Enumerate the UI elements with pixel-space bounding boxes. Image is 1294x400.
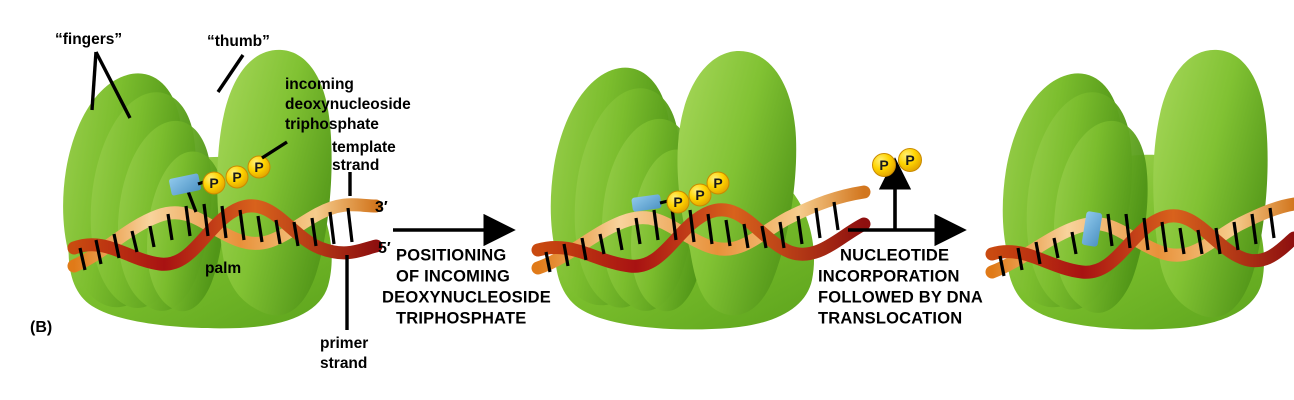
panel-letter-label: (B)	[30, 319, 52, 336]
label-thumb: “thumb”	[207, 33, 270, 50]
phosphate-label: P	[209, 175, 218, 191]
transition-2-line-1: NUCLEOTIDE	[840, 246, 949, 264]
dna-polymerase-mechanism-figure: P P P “fingers” “thumb” incoming deoxynu…	[0, 0, 1294, 400]
label-incoming-line1: incoming	[285, 76, 354, 93]
transition-1-line-4: TRIPHOSPHATE	[396, 309, 526, 327]
phosphate-label: P	[673, 194, 682, 210]
label-template-line1: template	[332, 139, 396, 156]
phosphate-label: P	[254, 159, 263, 175]
phosphate-label: P	[232, 169, 241, 185]
phosphate-label: P	[695, 187, 704, 203]
label-three-prime: 3′	[375, 199, 388, 216]
label-incoming-line2: deoxynucleoside	[285, 96, 411, 113]
phosphate-label: P	[905, 152, 914, 168]
transition-1-line-3: DEOXYNUCLEOSIDE	[382, 288, 551, 306]
transition-2-line-4: TRANSLOCATION	[818, 309, 962, 327]
transition-2-line-3: FOLLOWED BY DNA	[818, 288, 983, 306]
label-fingers: “fingers”	[55, 31, 122, 48]
label-five-prime: 5′	[378, 240, 391, 257]
label-palm: palm	[205, 260, 241, 277]
transition-2-line-2: INCORPORATION	[818, 267, 960, 285]
transition-1-line-1: POSITIONING	[396, 246, 506, 264]
transition-1-line-2: OF INCOMING	[396, 267, 510, 285]
figure-canvas: P P P “fingers” “thumb” incoming deoxynu…	[0, 0, 1294, 400]
label-primer-line1: primer	[320, 335, 368, 352]
phosphate-label: P	[713, 175, 722, 191]
label-incoming-line3: triphosphate	[285, 116, 379, 133]
label-template-line2: strand	[332, 157, 379, 174]
thumb-body	[1153, 50, 1267, 318]
phosphate-label: P	[879, 157, 888, 173]
label-primer-line2: strand	[320, 355, 367, 372]
